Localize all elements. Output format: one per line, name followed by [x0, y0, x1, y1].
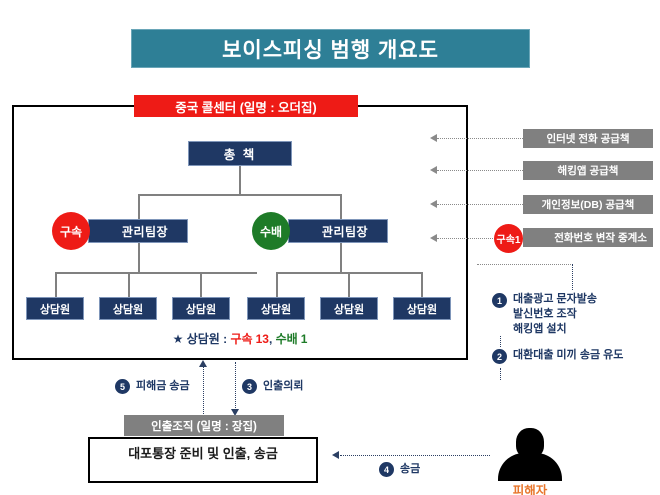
node-supplier-number-spoofing-label: 전화번호 변작 중계소: [554, 230, 647, 245]
node-agent: 상담원: [393, 297, 451, 320]
connector-agent-0-drop: [55, 272, 57, 297]
node-agent: 상담원: [99, 297, 157, 320]
victim-figure: 피해자: [492, 428, 568, 494]
victim-label: 피해자: [492, 480, 568, 495]
node-agent: 상담원: [26, 297, 84, 320]
node-agent-label: 상담원: [334, 301, 364, 317]
node-supplier-hacking-app-label: 해킹앱 공급책: [558, 163, 619, 178]
flow-5-text: 피해금 송금: [136, 379, 190, 393]
withdraw-org-header: 인출조직 (일명 : 장집): [124, 415, 284, 436]
node-manager-right: 관리팀장: [288, 219, 388, 243]
flow-label-4: 4 송금: [379, 461, 420, 477]
node-supplier-personal-data: 개인정보(DB) 공급책: [523, 195, 653, 214]
connector-agent-5-drop: [421, 272, 423, 297]
arrow-supplier-3-line: [437, 238, 497, 239]
step-2-text: 대환대출 미끼 송금 유도: [513, 348, 623, 363]
step-1: 1 대출광고 문자발송발신번호 조작해킹앱 설치: [492, 292, 597, 337]
page-title-banner: 보이스피싱 범행 개요도: [131, 29, 530, 68]
agent-count-arrest-label: 구속: [231, 332, 253, 346]
arrow-flow-5-head: [199, 360, 207, 367]
connector-boss-vertical: [239, 166, 241, 195]
node-supplier-number-spoofing: 전화번호 변작 중계소: [523, 228, 653, 247]
arrow-flow-5-line: [203, 366, 204, 414]
callcenter-header-label: 중국 콜센터 (일명 : 오더집): [175, 97, 316, 116]
node-manager-left: 관리팀장: [88, 219, 188, 243]
flow-4-number: 4: [379, 462, 394, 477]
connector-agent-4-drop: [348, 272, 350, 297]
flow-4-text: 송금: [400, 462, 420, 476]
withdraw-org-header-label: 인출조직 (일명 : 장집): [151, 418, 257, 434]
agent-count-note: ★ 상담원 : 구속13, 수배1: [12, 330, 468, 347]
flow-label-3: 3 인출의뢰: [242, 378, 303, 394]
agent-count-arrest-value: 13: [253, 332, 269, 346]
node-supplier-hacking-app: 해킹앱 공급책: [523, 161, 653, 180]
node-agent-label: 상담원: [40, 301, 70, 317]
arrow-supplier-1-head: [430, 166, 437, 174]
node-boss-label: 총 책: [224, 144, 256, 163]
node-agent-label: 상담원: [113, 301, 143, 317]
arrow-supplier-1-line: [437, 170, 523, 171]
node-agent-label: 상담원: [261, 301, 291, 317]
arrow-supplier-2-head: [430, 200, 437, 208]
node-manager-right-label: 관리팀장: [308, 223, 368, 240]
step-1-number: 1: [492, 293, 507, 308]
connector-step2-to-victim: [500, 368, 501, 380]
arrow-supplier-3-head: [430, 234, 437, 242]
node-agent-label: 상담원: [407, 301, 437, 317]
connector-supplier-to-step-horizontal: [477, 264, 573, 265]
connector-managers-horizontal: [138, 194, 342, 196]
connector-left-team-stem: [138, 243, 140, 273]
status-badge-wanted-right: 수배: [252, 212, 290, 250]
status-badge-arrested-supplier: 구속1: [494, 224, 523, 253]
arrow-supplier-0-line: [437, 138, 523, 139]
flow-5-number: 5: [115, 379, 130, 394]
node-boss: 총 책: [188, 141, 292, 166]
node-agent: 상담원: [247, 297, 305, 320]
connector-agent-3-drop: [276, 272, 278, 297]
arrow-supplier-2-line: [437, 204, 523, 205]
connector-manager-left-drop: [138, 194, 140, 219]
star-icon: ★: [173, 332, 184, 346]
connector-supplier-to-step-vertical: [572, 264, 573, 290]
step-2: 2 대환대출 미끼 송금 유도: [492, 348, 623, 364]
node-agent: 상담원: [172, 297, 230, 320]
connector-agent-1-drop: [128, 272, 130, 297]
arrow-flow-4-line: [340, 455, 490, 456]
diagram-canvas: 보이스피싱 범행 개요도 중국 콜센터 (일명 : 오더집) 총 책 관리팀장 …: [0, 0, 660, 495]
person-silhouette-body-icon: [498, 453, 562, 481]
node-manager-left-label: 관리팀장: [108, 223, 168, 240]
flow-3-text: 인출의뢰: [263, 379, 303, 393]
arrow-supplier-0-head: [430, 134, 437, 142]
withdraw-org-body: 대포통장 준비 및 인출, 송금: [88, 443, 318, 462]
step-1-text: 대출광고 문자발송발신번호 조작해킹앱 설치: [513, 292, 597, 337]
connector-right-team-stem: [340, 243, 342, 273]
connector-left-team-bar: [55, 272, 257, 274]
flow-label-5: 5 피해금 송금: [115, 378, 190, 394]
agent-count-prefix: 상담원 :: [187, 332, 231, 346]
connector-step1-to-step2: [500, 336, 501, 347]
status-badge-arrested-supplier-label: 구속1: [497, 231, 521, 246]
flow-3-number: 3: [242, 379, 257, 394]
arrow-flow-4-head: [332, 451, 339, 459]
node-agent-label: 상담원: [186, 301, 216, 317]
node-agent: 상담원: [320, 297, 378, 320]
agent-count-wanted-label: 수배: [276, 332, 298, 346]
agent-count-wanted-value: 1: [298, 332, 308, 346]
connector-agent-2-drop: [200, 272, 202, 297]
connector-manager-right-drop: [340, 194, 342, 219]
status-badge-arrested-left-label: 구속: [60, 223, 82, 240]
node-supplier-internet-phone-label: 인터넷 전화 공급책: [546, 131, 629, 146]
page-title: 보이스피싱 범행 개요도: [222, 34, 439, 64]
step-2-number: 2: [492, 349, 507, 364]
node-supplier-internet-phone: 인터넷 전화 공급책: [523, 129, 653, 148]
arrow-flow-3-line: [235, 362, 236, 410]
status-badge-wanted-right-label: 수배: [260, 223, 282, 240]
status-badge-arrested-left: 구속: [52, 212, 90, 250]
agent-count-separator: ,: [269, 332, 276, 346]
callcenter-header: 중국 콜센터 (일명 : 오더집): [134, 95, 358, 117]
node-supplier-personal-data-label: 개인정보(DB) 공급책: [542, 197, 635, 212]
